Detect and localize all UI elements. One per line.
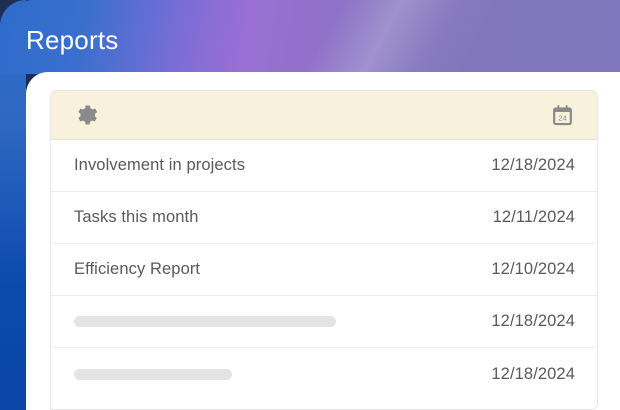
app-screen: Reports 24 Involvement in pro [0,0,620,410]
list-header-row: 24 [51,91,597,140]
report-name: Involvement in projects [74,156,245,175]
gear-icon[interactable] [73,102,99,128]
report-date: 12/18/2024 [491,156,575,175]
reports-list-card: 24 Involvement in projects 12/18/2024 Ta… [50,90,598,410]
report-date: 12/18/2024 [491,312,575,331]
report-name: Efficiency Report [74,260,200,279]
report-date: 12/18/2024 [491,365,575,384]
table-row[interactable]: Tasks this month 12/11/2024 [51,192,597,244]
table-row[interactable]: 12/18/2024 [51,348,597,400]
report-date: 12/10/2024 [491,260,575,279]
calendar-icon[interactable]: 24 [550,103,575,128]
table-row[interactable]: Efficiency Report 12/10/2024 [51,244,597,296]
report-date: 12/11/2024 [493,208,575,227]
report-name: Tasks this month [74,208,198,227]
table-row[interactable]: 12/18/2024 [51,296,597,348]
page-title: Reports [26,27,118,53]
report-name-placeholder [74,316,336,327]
calendar-day-label: 24 [558,113,567,122]
table-row[interactable]: Involvement in projects 12/18/2024 [51,140,597,192]
report-name-placeholder [74,369,232,380]
